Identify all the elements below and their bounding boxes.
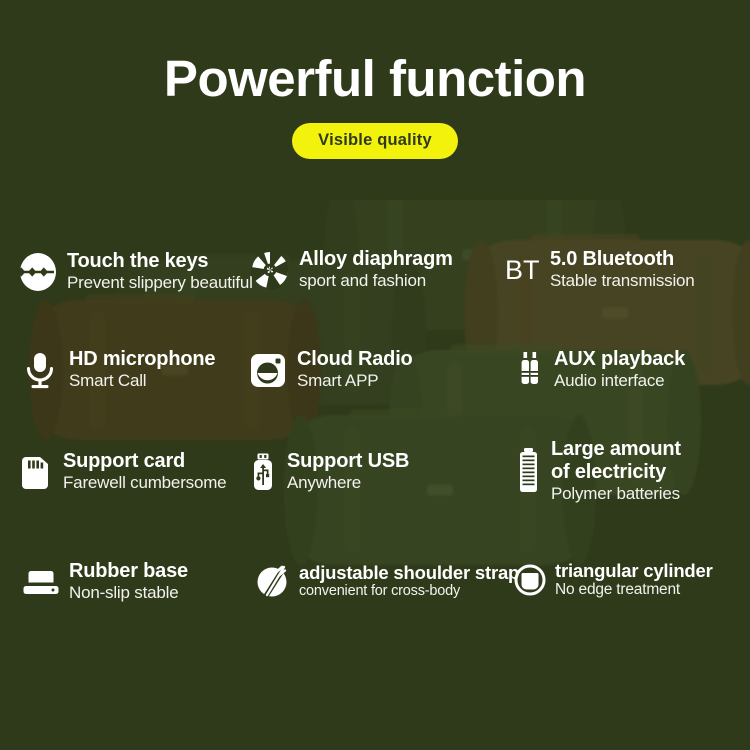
- microphone-icon: [20, 349, 60, 391]
- feature-large-battery: Large amount of electricity Polymer batt…: [516, 438, 681, 505]
- triangular-cylinder-icon: [514, 562, 546, 598]
- feature-subtitle: Smart APP: [297, 371, 413, 391]
- feature-grid: Touch the keys Prevent slippery beautifu…: [0, 236, 750, 636]
- feature-title: triangular cylinder: [555, 560, 713, 581]
- feature-subtitle: convenient for cross-body: [299, 583, 519, 600]
- infographic-canvas: Powerful function Visible quality: [0, 0, 750, 750]
- feature-alloy-diaphragm: Alloy diaphragm sport and fashion: [250, 248, 453, 292]
- feature-title: AUX playback: [554, 348, 685, 371]
- feature-shoulder-strap: adjustable shoulder strap convenient for…: [256, 562, 519, 601]
- feature-touch-the-keys: Touch the keys Prevent slippery beautifu…: [18, 250, 253, 294]
- feature-text: Cloud Radio Smart APP: [297, 348, 413, 392]
- bluetooth-bt-icon: BT: [505, 249, 541, 291]
- sd-card-icon: [20, 451, 54, 493]
- feature-support-card: Support card Farewell cumbersome: [20, 450, 226, 494]
- cloud-radio-app-icon: [248, 349, 288, 391]
- feature-subtitle: Audio interface: [554, 371, 685, 391]
- battery-icon: [516, 446, 542, 496]
- feature-title: 5.0 Bluetooth: [550, 248, 695, 271]
- feature-text: Support USB Anywhere: [287, 450, 409, 494]
- feature-subtitle: Prevent slippery beautiful: [67, 273, 253, 293]
- feature-subtitle: Polymer batteries: [551, 484, 681, 504]
- feature-subtitle: Non-slip stable: [69, 583, 188, 603]
- feature-text: Support card Farewell cumbersome: [63, 450, 226, 494]
- feature-subtitle: sport and fashion: [299, 271, 453, 291]
- feature-aux-playback: AUX playback Audio interface: [515, 348, 685, 392]
- feature-text: 5.0 Bluetooth Stable transmission: [550, 248, 695, 292]
- feature-title: Rubber base: [69, 560, 188, 583]
- page-title: Powerful function: [0, 0, 750, 106]
- feature-subtitle: Stable transmission: [550, 271, 695, 291]
- touch-keys-icon: [18, 251, 58, 293]
- feature-support-usb: Support USB Anywhere: [248, 450, 409, 494]
- feature-title: Support USB: [287, 450, 409, 473]
- feature-subtitle: No edge treatment: [555, 581, 713, 600]
- feature-title: Cloud Radio: [297, 348, 413, 371]
- feature-title-line2: of electricity: [551, 461, 681, 484]
- feature-subtitle: Farewell cumbersome: [63, 473, 226, 493]
- feature-text: Touch the keys Prevent slippery beautifu…: [67, 250, 253, 294]
- feature-hd-microphone: HD microphone Smart Call: [20, 348, 215, 392]
- feature-row-2: HD microphone Smart Call Cloud Radio Sma…: [0, 336, 750, 436]
- aux-jack-icon: [515, 349, 545, 391]
- badge-container: Visible quality: [0, 123, 750, 159]
- feature-text: HD microphone Smart Call: [69, 348, 215, 392]
- feature-row-1: Touch the keys Prevent slippery beautifu…: [0, 236, 750, 336]
- shoulder-strap-icon: [256, 562, 290, 600]
- feature-subtitle: Anywhere: [287, 473, 409, 493]
- feature-text: adjustable shoulder strap convenient for…: [299, 562, 519, 601]
- alloy-diaphragm-icon: [250, 249, 290, 291]
- feature-title: Alloy diaphragm: [299, 248, 453, 271]
- feature-bluetooth: BT 5.0 Bluetooth Stable transmission: [505, 248, 695, 292]
- feature-title: adjustable shoulder strap: [299, 562, 519, 583]
- feature-text: triangular cylinder No edge treatment: [555, 560, 713, 600]
- rubber-base-icon: [22, 565, 60, 599]
- feature-title: Large amount: [551, 438, 681, 461]
- feature-title: Touch the keys: [67, 250, 253, 273]
- feature-text: Large amount of electricity Polymer batt…: [551, 438, 681, 505]
- feature-text: Rubber base Non-slip stable: [69, 560, 188, 604]
- feature-row-3: Support card Farewell cumbersome: [0, 436, 750, 536]
- feature-row-4: Rubber base Non-slip stable adjustable s…: [0, 536, 750, 636]
- feature-cloud-radio: Cloud Radio Smart APP: [248, 348, 413, 392]
- visible-quality-badge: Visible quality: [292, 123, 458, 159]
- feature-text: AUX playback Audio interface: [554, 348, 685, 392]
- feature-subtitle: Smart Call: [69, 371, 215, 391]
- feature-text: Alloy diaphragm sport and fashion: [299, 248, 453, 292]
- feature-title: Support card: [63, 450, 226, 473]
- header: Powerful function Visible quality: [0, 0, 750, 159]
- feature-title: HD microphone: [69, 348, 215, 371]
- feature-triangular-cylinder: triangular cylinder No edge treatment: [514, 560, 713, 600]
- feature-rubber-base: Rubber base Non-slip stable: [22, 560, 188, 604]
- usb-drive-icon: [248, 451, 278, 493]
